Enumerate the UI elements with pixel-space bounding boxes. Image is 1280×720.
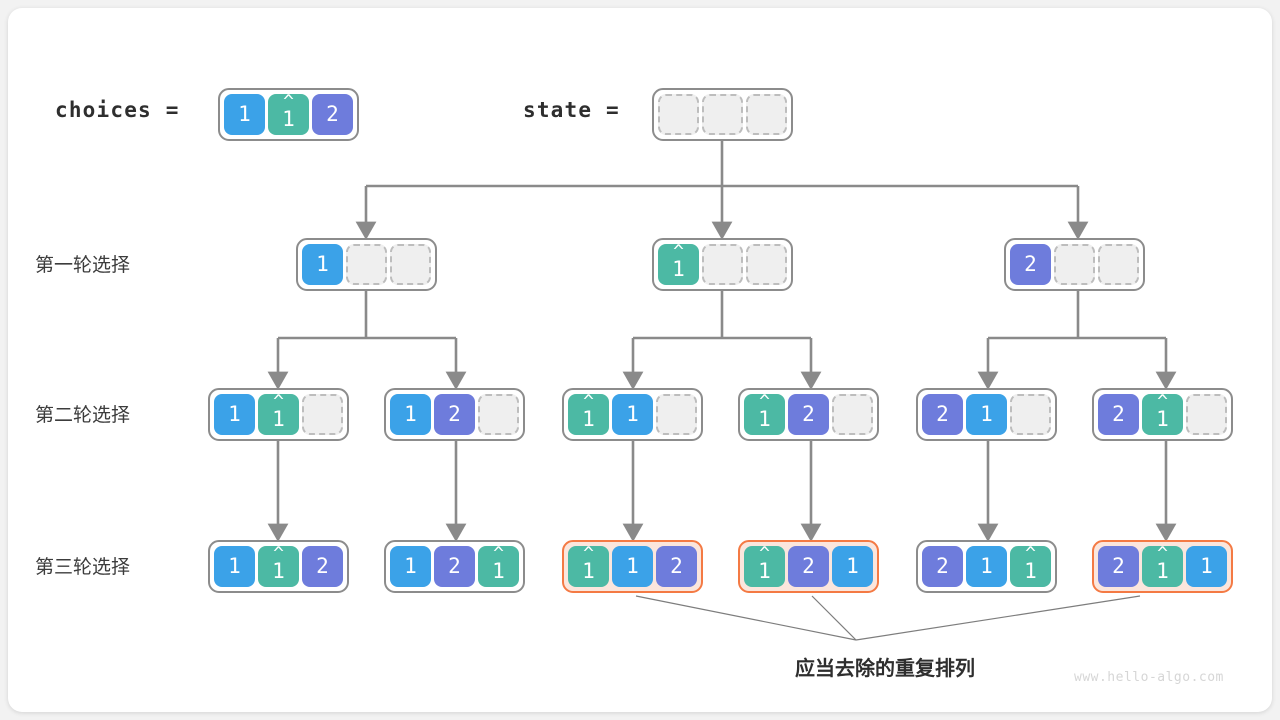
state-array-r1-n3-cell-0: 2 (1010, 244, 1051, 285)
site-watermark: www.hello-algo.com (1074, 670, 1224, 685)
state-array-r1-n1-cell-2 (390, 244, 431, 285)
state-array-r1-n1-cell-1 (346, 244, 387, 285)
state-array-r3-n2-cell-2: ^1 (478, 546, 519, 587)
state-cell-2 (746, 94, 787, 135)
state-array-r3-n1-cell-2: 2 (302, 546, 343, 587)
cell-value: 2 (670, 556, 683, 577)
state-array-r2-n4-cell-1: 2 (788, 394, 829, 435)
state-array-r3-n4-cell-1: 2 (788, 546, 829, 587)
cell-value: 2 (1112, 556, 1125, 577)
choices-array: 1^12 (218, 88, 359, 141)
cell-value: 1 (626, 556, 639, 577)
row-label-round-1: 第一轮选择 (35, 250, 130, 277)
state-array-r2-n2-cell-1: 2 (434, 394, 475, 435)
cell-value: 1 (238, 104, 251, 125)
state-array-r2-n2: 12 (384, 388, 525, 441)
state-array-r3-n2-cell-1: 2 (434, 546, 475, 587)
cell-value: 2 (936, 404, 949, 425)
diagram-canvas: choices = 1^12 state = 第一轮选择 第二轮选择 第三轮选择… (0, 0, 1280, 720)
cell-value: 1 (846, 556, 859, 577)
state-array-r2-n2-cell-2 (478, 394, 519, 435)
cell-value: 2 (448, 404, 461, 425)
state-array-r3-n5: 21^1 (916, 540, 1057, 593)
cell-value: 1 (672, 259, 685, 280)
state-array-r3-n6-cell-0: 2 (1098, 546, 1139, 587)
cell-value: 1 (228, 556, 241, 577)
state-array-r3-n3-cell-2: 2 (656, 546, 697, 587)
cell-value: 1 (1156, 561, 1169, 582)
state-array-r2-n1-cell-1: ^1 (258, 394, 299, 435)
state-array-r2-n3-cell-1: 1 (612, 394, 653, 435)
cell-value: 1 (758, 409, 771, 430)
cell-value: 1 (282, 109, 295, 130)
state-array-r2-n6-cell-2 (1186, 394, 1227, 435)
cell-value: 2 (448, 556, 461, 577)
cell-value: 1 (272, 409, 285, 430)
state-array-r3-n5-cell-0: 2 (922, 546, 963, 587)
state-cell-1 (702, 94, 743, 135)
state-array-r3-n6-cell-1: ^1 (1142, 546, 1183, 587)
state-array-r3-n2: 12^1 (384, 540, 525, 593)
state-array-r3-n3-cell-1: 1 (612, 546, 653, 587)
state-array-r2-n4-cell-2 (832, 394, 873, 435)
cell-value: 1 (626, 404, 639, 425)
cell-value: 1 (492, 561, 505, 582)
cell-value: 1 (316, 254, 329, 275)
state-array-r2-n6-cell-1: ^1 (1142, 394, 1183, 435)
cell-value: 1 (404, 404, 417, 425)
state-array-r3-n4-cell-0: ^1 (744, 546, 785, 587)
state-array-r2-n1-cell-2 (302, 394, 343, 435)
cell-value: 1 (582, 409, 595, 430)
cell-value: 1 (1156, 409, 1169, 430)
state-array-r2-n5-cell-2 (1010, 394, 1051, 435)
state-array-r2-n6-cell-0: 2 (1098, 394, 1139, 435)
state-array-r3-n4: ^121 (738, 540, 879, 593)
state-array-r1-n3-cell-2 (1098, 244, 1139, 285)
choices-cell-2: 2 (312, 94, 353, 135)
cell-value: 1 (582, 561, 595, 582)
state-array-r2-n5-cell-0: 2 (922, 394, 963, 435)
state-label: state = (523, 98, 620, 122)
state-array-r3-n6-cell-2: 1 (1186, 546, 1227, 587)
diagram-card (8, 8, 1272, 712)
row-label-round-2: 第二轮选择 (35, 400, 130, 427)
state-array-r3-n2-cell-0: 1 (390, 546, 431, 587)
cell-value: 2 (802, 556, 815, 577)
state-array-r3-n3-cell-0: ^1 (568, 546, 609, 587)
state-array (652, 88, 793, 141)
cell-value: 1 (228, 404, 241, 425)
state-array-r1-n3: 2 (1004, 238, 1145, 291)
state-array-r1-n2-cell-0: ^1 (658, 244, 699, 285)
cell-value: 2 (326, 104, 339, 125)
cell-value: 1 (758, 561, 771, 582)
cell-value: 2 (936, 556, 949, 577)
state-array-r2-n4-cell-0: ^1 (744, 394, 785, 435)
cell-value: 1 (1024, 561, 1037, 582)
state-array-r1-n1: 1 (296, 238, 437, 291)
state-array-r2-n5: 21 (916, 388, 1057, 441)
state-array-r1-n2: ^1 (652, 238, 793, 291)
state-array-r3-n5-cell-1: 1 (966, 546, 1007, 587)
choices-cell-0: 1 (224, 94, 265, 135)
cell-value: 2 (1024, 254, 1037, 275)
state-array-r1-n2-cell-2 (746, 244, 787, 285)
state-array-r3-n6: 2^11 (1092, 540, 1233, 593)
state-array-r1-n1-cell-0: 1 (302, 244, 343, 285)
state-cell-0 (658, 94, 699, 135)
state-array-r3-n1-cell-0: 1 (214, 546, 255, 587)
cell-value: 2 (802, 404, 815, 425)
cell-value: 2 (1112, 404, 1125, 425)
state-array-r3-n5-cell-2: ^1 (1010, 546, 1051, 587)
state-array-r3-n1: 1^12 (208, 540, 349, 593)
state-array-r2-n1-cell-0: 1 (214, 394, 255, 435)
row-label-round-3: 第三轮选择 (35, 552, 130, 579)
cell-value: 1 (1200, 556, 1213, 577)
state-array-r2-n1: 1^1 (208, 388, 349, 441)
cell-value: 1 (980, 556, 993, 577)
choices-label: choices = (55, 98, 180, 122)
state-array-r2-n4: ^12 (738, 388, 879, 441)
state-array-r1-n3-cell-1 (1054, 244, 1095, 285)
state-array-r2-n5-cell-1: 1 (966, 394, 1007, 435)
cell-value: 1 (272, 561, 285, 582)
state-array-r2-n6: 2^1 (1092, 388, 1233, 441)
state-array-r2-n2-cell-0: 1 (390, 394, 431, 435)
cell-value: 1 (980, 404, 993, 425)
state-array-r1-n2-cell-1 (702, 244, 743, 285)
duplicate-permutation-caption: 应当去除的重复排列 (795, 652, 975, 681)
state-array-r3-n4-cell-2: 1 (832, 546, 873, 587)
state-array-r3-n1-cell-1: ^1 (258, 546, 299, 587)
cell-value: 1 (404, 556, 417, 577)
choices-cell-1: ^1 (268, 94, 309, 135)
cell-value: 2 (316, 556, 329, 577)
state-array-r2-n3: ^11 (562, 388, 703, 441)
state-array-r2-n3-cell-0: ^1 (568, 394, 609, 435)
state-array-r2-n3-cell-2 (656, 394, 697, 435)
state-array-r3-n3: ^112 (562, 540, 703, 593)
